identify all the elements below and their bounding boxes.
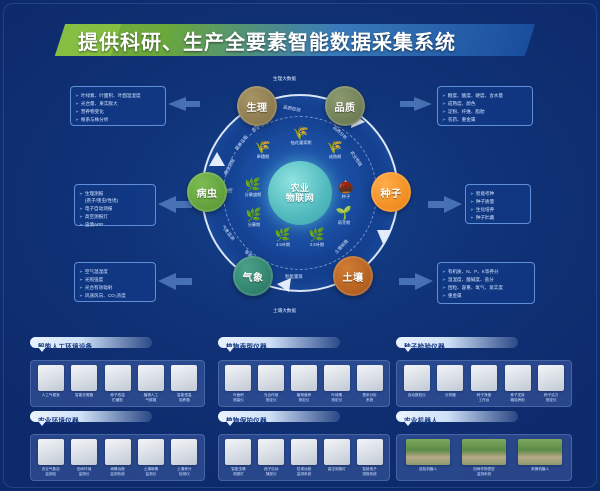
product-thumb xyxy=(138,365,164,391)
bullet-icon: ➢ xyxy=(79,292,83,299)
bullet-icon: ➢ xyxy=(470,206,474,213)
plant-icon: 🌿 xyxy=(235,178,271,191)
info-line: ➢光照强度 xyxy=(79,276,150,283)
product-card-row: 人工气候室 智能光照箱 种子低温 贮藏柜 植物人工 气候箱 智能恒温 培养箱 xyxy=(30,360,205,407)
plant-icon: 🌿 xyxy=(267,228,299,241)
product-item[interactable]: 土壤养分 检测仪 xyxy=(168,439,201,477)
center-node-agri-iot: 农业 物联网 xyxy=(268,161,332,225)
bullet-icon: ➢ xyxy=(470,214,474,221)
product-item[interactable]: 智能虫情 测报灯 xyxy=(222,439,255,477)
product-item[interactable]: 种子净度 工作台 xyxy=(467,365,501,403)
bullet-icon: ➢ xyxy=(442,276,446,283)
bullet-icon: ➢ xyxy=(442,292,446,299)
product-tab-label: 农业机器人 xyxy=(404,418,438,425)
bullet-icon: ➢ xyxy=(442,100,446,107)
stage-ripening: 🌾 成熟期 xyxy=(317,140,353,160)
product-item[interactable]: 植物人工 气候箱 xyxy=(134,365,167,403)
info-line: ➢有机质、N、P、K等养分 xyxy=(442,268,529,275)
product-thumb xyxy=(357,439,383,465)
product-thumb xyxy=(471,365,497,391)
bullet-icon: ➢ xyxy=(75,100,79,107)
product-item[interactable]: 田间环境 监测仪 xyxy=(67,439,100,477)
product-item[interactable]: 性诱远程 监测系统 xyxy=(288,439,321,477)
bullet-icon: ➢ xyxy=(79,190,83,197)
bullet-icon: ➢ xyxy=(442,92,446,99)
product-item[interactable]: 智能电子 测报系统 xyxy=(353,439,386,477)
bullet-icon: ➢ xyxy=(442,116,446,123)
stage-germinate: 🌱 萌芽期 xyxy=(327,206,361,226)
product-section-agri-robot: 农业机器人 巡检机器人 田间作物表型 监测系统 采摘机器人 xyxy=(396,410,572,481)
info-box-pest: ➢生理测报(孢子/害虫/性诱) ➢电子自动测报 ➢高空测报灯 ➢虫情APP xyxy=(74,184,156,226)
bullet-icon: ➢ xyxy=(75,92,79,99)
plant-icon: 🌿 xyxy=(301,228,333,241)
bullet-icon: ➢ xyxy=(79,276,83,283)
product-tab-label: 植物保护仪器 xyxy=(226,418,267,425)
info-line: ➢种子质量 xyxy=(470,198,525,205)
product-item[interactable]: 巡检机器人 xyxy=(400,439,456,472)
arrowhead-clockwise-2 xyxy=(377,230,391,244)
product-item[interactable]: 土壤墒情 监测仪 xyxy=(134,439,167,477)
node-seed[interactable]: 种子 xyxy=(371,172,411,212)
info-line: ➢叶绿素、叶面积、叶面温湿度 xyxy=(75,92,160,99)
bullet-icon: ➢ xyxy=(79,268,83,275)
product-thumb xyxy=(258,365,284,391)
info-line: ➢光合量、果实膨大 xyxy=(75,100,160,107)
product-thumb xyxy=(138,439,164,465)
product-item[interactable]: 叶绿素 测定仪 xyxy=(320,365,353,403)
bullet-icon: ➢ xyxy=(79,284,83,291)
product-card-row: 巡检机器人 田间作物表型 监测系统 采摘机器人 xyxy=(396,434,572,481)
product-thumb xyxy=(324,439,350,465)
stage-leaf25: 🌿 2.5叶期 xyxy=(301,228,333,248)
bullet-icon: ➢ xyxy=(75,108,79,115)
info-line: ➢根系与株分析 xyxy=(75,116,160,123)
product-item[interactable]: 墒情远程 监测系统 xyxy=(101,439,134,477)
arc-label-top: 生理大数据 xyxy=(273,76,296,82)
bullet-icon: ➢ xyxy=(442,108,446,115)
stage-booting: 🌾 抽花灌浆期 xyxy=(281,126,321,146)
product-item[interactable]: 根系分析 系统 xyxy=(353,365,386,403)
product-tab[interactable]: 植物表型仪器 xyxy=(218,337,340,348)
product-section-plant-protection: 植物保护仪器 智能虫情 测报灯 孢子自动 捕捉仪 性诱远程 监测系统 高空测报灯… xyxy=(218,410,390,481)
info-line: ➢生化培养 xyxy=(470,206,525,213)
info-line: ➢温湿度、酸碱度、盐分 xyxy=(442,276,529,283)
product-item[interactable]: 种子发芽 箱培养柜 xyxy=(501,365,535,403)
product-thumb xyxy=(71,439,97,465)
bullet-icon: ➢ xyxy=(79,205,83,212)
info-line: ➢生理测报(孢子/害虫/性诱) xyxy=(79,190,150,204)
product-thumb xyxy=(38,365,64,391)
info-line: ➢高空测报灯 xyxy=(79,213,150,220)
info-box-weather: ➢空气温湿度 ➢光照强度 ➢光合有效辐射 ➢风速风向、CO₂浓度 xyxy=(74,262,156,302)
wheat-icon: 🌾 xyxy=(245,140,281,153)
product-item[interactable]: 种子低温 贮藏柜 xyxy=(101,365,134,403)
sprout-icon: 🌱 xyxy=(327,206,361,219)
product-tab[interactable]: 农业环境仪器 xyxy=(30,411,152,422)
info-line: ➢种子贮藏 xyxy=(470,214,525,221)
product-section-plant-phenotype: 植物表型仪器 叶面积 测量仪 光合作用 测定仪 植物营养 测定仪 叶绿素 测定仪… xyxy=(218,336,390,407)
product-section-seed-testing: 种子检验仪器 自动数粒仪 分样器 种子净度 工作台 种子发芽 箱培养柜 种子活力… xyxy=(396,336,572,407)
info-line: ➢空气温湿度 xyxy=(79,268,150,275)
bullet-icon: ➢ xyxy=(470,198,474,205)
product-card-row: 自动数粒仪 分样器 种子净度 工作台 种子发芽 箱培养柜 种子活力 测定仪 xyxy=(396,360,572,407)
arrowhead-clockwise-3 xyxy=(277,278,291,292)
product-item[interactable]: 高空测报灯 xyxy=(320,439,353,472)
product-item[interactable]: 自动数粒仪 xyxy=(400,365,434,398)
bullet-icon: ➢ xyxy=(442,268,446,275)
info-line: ➢成熟度、颜色 xyxy=(442,100,527,107)
product-thumb xyxy=(505,365,531,391)
info-box-physiology: ➢叶绿素、叶面积、叶面温湿度 ➢光合量、果实膨大 ➢营养物变化 ➢根系与株分析 xyxy=(70,86,166,126)
product-section-agri-environment: 农业环境仪器 农业气象站 监测站 田间环境 监测仪 墒情远程 监测系统 土壤墒情… xyxy=(30,410,205,481)
bullet-icon: ➢ xyxy=(79,213,83,220)
product-thumb xyxy=(38,439,64,465)
stage-heading: 🌾 牵穗期 xyxy=(245,140,281,160)
info-box-soil: ➢有机质、N、P、K等养分 ➢温湿度、酸碱度、盐分 ➢团粒、容重、氧气、紧实度 … xyxy=(437,262,535,304)
product-item[interactable]: 人工气候室 xyxy=(34,365,67,398)
product-tab-label: 植物表型仪器 xyxy=(226,344,267,351)
product-item[interactable]: 种子活力 测定仪 xyxy=(534,365,568,403)
wheat-icon: 🌾 xyxy=(281,126,321,139)
info-line: ➢智能考种 xyxy=(470,190,525,197)
product-tab-label: 农业环境仪器 xyxy=(38,418,79,425)
ring-label-g: 智能灌溉 xyxy=(285,274,303,280)
info-line: ➢淀粉、纤维、脂肪 xyxy=(442,108,527,115)
product-thumb xyxy=(291,439,317,465)
product-thumb xyxy=(105,439,131,465)
product-section-artificial-environment: 智能人工环境设备 人工气候室 智能光照箱 种子低温 贮藏柜 植物人工 气候箱 智… xyxy=(30,336,205,407)
info-box-seed: ➢智能考种 ➢种子质量 ➢生化培养 ➢种子贮藏 xyxy=(465,184,531,224)
center-label-line2: 物联网 xyxy=(286,193,315,203)
product-item[interactable]: 光合作用 测定仪 xyxy=(255,365,288,403)
info-line: ➢农药、重金属 xyxy=(442,116,527,123)
arc-label-bottom: 土壤大数据 xyxy=(273,308,296,314)
arrowhead-clockwise-4 xyxy=(209,152,225,166)
product-thumb xyxy=(404,365,430,391)
info-box-quality: ➢糖度、酸度、硬度、含水量 ➢成熟度、颜色 ➢淀粉、纤维、脂肪 ➢农药、重金属 xyxy=(437,86,533,126)
product-tab[interactable]: 农业机器人 xyxy=(396,411,518,422)
info-line: ➢风速风向、CO₂浓度 xyxy=(79,292,150,299)
page-title: 提供科研、生产全要素智能数据采集系统 xyxy=(78,26,538,55)
info-line: ➢虫情APP xyxy=(79,221,150,228)
product-thumb xyxy=(324,365,350,391)
product-item[interactable]: 智能光照箱 xyxy=(67,365,100,398)
bullet-icon: ➢ xyxy=(79,221,83,228)
product-item[interactable]: 农业气象站 监测站 xyxy=(34,439,67,477)
product-tab[interactable]: 种子检验仪器 xyxy=(396,337,518,348)
product-thumb xyxy=(225,439,251,465)
stage-tiller: 🌿 分蘖期 xyxy=(237,208,271,228)
center-label-line1: 农业 xyxy=(290,183,309,193)
product-thumb xyxy=(258,439,284,465)
poster-root: 提供科研、生产全要素智能数据采集系统 ➢叶绿素、叶面积、叶面温湿度 ➢光合量、果… xyxy=(0,0,600,491)
node-pest[interactable]: 病虫 xyxy=(187,172,227,212)
product-item[interactable]: 叶面积 测量仪 xyxy=(222,365,255,403)
stage-seed: 🌰 种子 xyxy=(331,180,361,200)
product-item[interactable]: 智能恒温 培养箱 xyxy=(168,365,201,403)
product-thumb xyxy=(538,365,564,391)
info-line: ➢糖度、酸度、硬度、含水量 xyxy=(442,92,527,99)
info-line: ➢营养物变化 xyxy=(75,108,160,115)
title-banner: 提供科研、生产全要素智能数据采集系统 xyxy=(60,22,540,58)
product-thumb xyxy=(462,439,506,465)
node-quality[interactable]: 品质 xyxy=(325,86,365,126)
node-physiology[interactable]: 生理 xyxy=(237,86,277,126)
bullet-icon: ➢ xyxy=(75,116,79,123)
product-thumb xyxy=(518,439,562,465)
info-line: ➢光合有效辐射 xyxy=(79,284,150,291)
bullet-icon: ➢ xyxy=(442,284,446,291)
arrow-to-seed xyxy=(428,196,462,213)
product-thumb xyxy=(171,439,197,465)
seed-icon: 🌰 xyxy=(331,180,361,193)
info-line: ➢电子自动测报 xyxy=(79,205,150,212)
stage-leaf45: 🌿 4.5叶期 xyxy=(267,228,299,248)
bullet-icon: ➢ xyxy=(470,190,474,197)
product-item[interactable]: 孢子自动 捕捉仪 xyxy=(255,439,288,477)
product-tab[interactable]: 智能人工环境设备 xyxy=(30,337,152,348)
product-thumb xyxy=(171,365,197,391)
node-soil[interactable]: 土壤 xyxy=(333,256,373,296)
info-line: ➢团粒、容重、氧气、紧实度 xyxy=(442,284,529,291)
product-thumb xyxy=(406,439,450,465)
product-item[interactable]: 分样器 xyxy=(434,365,468,398)
product-item[interactable]: 植物营养 测定仪 xyxy=(288,365,321,403)
stage-tiller-peak: 🌿 分蘖盛期 xyxy=(235,178,271,198)
product-card-row: 叶面积 测量仪 光合作用 测定仪 植物营养 测定仪 叶绿素 测定仪 根系分析 系… xyxy=(218,360,390,407)
product-thumb xyxy=(357,365,383,391)
product-tab-label: 种子检验仪器 xyxy=(404,344,445,351)
product-card-row: 农业气象站 监测站 田间环境 监测仪 墒情远程 监测系统 土壤墒情 监测仪 土壤… xyxy=(30,434,205,481)
product-thumb xyxy=(437,365,463,391)
central-diagram: 生理大数据 土壤大数据 品质检测 表型监测 营养诊断 病虫测报 气象监测 智能灌… xyxy=(185,78,415,318)
product-item[interactable]: 采摘机器人 xyxy=(512,439,568,472)
wheat-icon: 🌾 xyxy=(317,140,353,153)
node-weather[interactable]: 气象 xyxy=(233,256,273,296)
product-tab[interactable]: 植物保护仪器 xyxy=(218,411,340,422)
info-line: ➢重金属 xyxy=(442,292,529,299)
product-thumb xyxy=(291,365,317,391)
product-thumb xyxy=(105,365,131,391)
product-tab-label: 智能人工环境设备 xyxy=(38,344,92,351)
plant-icon: 🌿 xyxy=(237,208,271,221)
product-thumb xyxy=(71,365,97,391)
product-thumb xyxy=(225,365,251,391)
product-item[interactable]: 田间作物表型 监测系统 xyxy=(456,439,512,477)
product-card-row: 智能虫情 测报灯 孢子自动 捕捉仪 性诱远程 监测系统 高空测报灯 智能电子 测… xyxy=(218,434,390,481)
